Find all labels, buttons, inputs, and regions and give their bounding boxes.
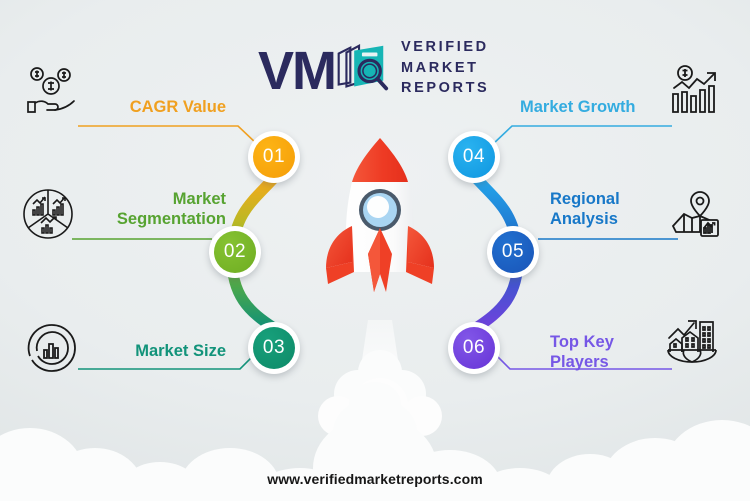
step-number-02: 02: [214, 231, 256, 273]
logo-word-reports: REPORTS: [401, 78, 489, 99]
book-magnifier-icon: [329, 38, 391, 100]
step-label-market-segmentation: Market Segmentation: [60, 190, 226, 230]
step-label-line1: Market: [60, 190, 226, 210]
step-label-line2: Segmentation: [60, 210, 226, 230]
step-number-05: 05: [492, 231, 534, 273]
step-label-line2: Analysis: [550, 210, 676, 230]
segmented-charts-circle-icon: [20, 186, 76, 242]
logo-word-market: MARKET: [401, 58, 489, 79]
step-node-03[interactable]: 03: [248, 322, 300, 374]
rocket-illustration: [316, 132, 444, 342]
step-number-06: 06: [453, 327, 495, 369]
footer-url[interactable]: www.verifiedmarketreports.com: [0, 471, 750, 487]
step-node-02[interactable]: 02: [209, 226, 261, 278]
step-label-line1: Top Key: [550, 333, 676, 353]
step-number-04: 04: [453, 136, 495, 178]
step-label-market-size: Market Size: [60, 342, 226, 362]
step-node-01[interactable]: 01: [248, 131, 300, 183]
map-pin-chart-icon: [668, 186, 724, 242]
donut-bar-chart-icon: [24, 320, 80, 376]
step-number-03: 03: [253, 327, 295, 369]
logo-word-verified: VERIFIED: [401, 37, 489, 58]
buildings-globe-growth-icon: [664, 312, 720, 368]
step-node-06[interactable]: 06: [448, 322, 500, 374]
logo-wordmark: VERIFIED MARKET REPORTS: [401, 37, 489, 99]
step-node-04[interactable]: 04: [448, 131, 500, 183]
infographic-canvas: VM VERIFIED MARKET REPORTS: [0, 0, 750, 501]
step-label-market-growth: Market Growth: [520, 98, 676, 118]
step-label-top-key-players: Top Key Players: [550, 333, 676, 373]
step-label-cagr-value: CAGR Value: [70, 98, 226, 118]
growth-bar-chart-dollar-icon: [668, 62, 724, 118]
step-node-05[interactable]: 05: [487, 226, 539, 278]
step-label-line2: Players: [550, 353, 676, 373]
brand-logo: VM VERIFIED MARKET REPORTS: [258, 28, 503, 108]
step-label-line1: Regional: [550, 190, 676, 210]
step-number-01: 01: [253, 136, 295, 178]
hand-with-coins-icon: [24, 62, 80, 118]
step-label-regional-analysis: Regional Analysis: [550, 190, 676, 230]
logo-monogram: VM: [258, 44, 335, 98]
